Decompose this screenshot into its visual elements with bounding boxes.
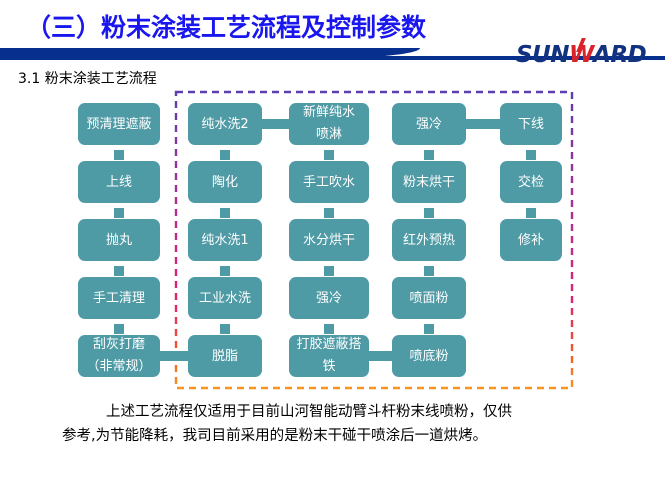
flow-box[interactable]: 喷底粉 [392, 335, 466, 377]
flow-box-label: 脱脂 [212, 348, 238, 365]
flow-box-label: 纯水洗1 [201, 232, 248, 249]
flow-box-label: 下线 [518, 116, 544, 133]
logo-text-ard: ARD [593, 42, 646, 68]
flow-box-label: 手工清理 [93, 290, 145, 307]
footer-note-line-2: 参考,为节能降耗，我司目前采用的是粉末干碰干喷涂后一道烘烤。 [62, 428, 487, 444]
flow-box-label: 喷底粉 [409, 348, 448, 365]
flow-box[interactable]: 打胶遮蔽搭铁 [289, 335, 369, 377]
flow-box-label: 打胶遮蔽搭铁 [296, 334, 361, 378]
flow-box[interactable]: 喷面粉 [392, 277, 466, 319]
flow-connector-horizontal [369, 351, 392, 361]
flow-connector-vertical [424, 150, 434, 160]
flow-box-label: 交检 [518, 174, 544, 191]
flow-box-label: 预清理遮蔽 [86, 116, 151, 133]
flow-box-label: 喷面粉 [409, 290, 448, 307]
footer-note-line-1: 上述工艺流程仅适用于目前山河智能动臂斗杆粉末线喷粉，仅供 [106, 404, 512, 420]
flow-box-label: 修补 [518, 232, 544, 249]
flow-box[interactable]: 纯水洗2 [188, 103, 262, 145]
flow-box[interactable]: 水分烘干 [289, 219, 369, 261]
flow-box-label: 工业水洗 [199, 290, 251, 307]
flow-box[interactable]: 陶化 [188, 161, 262, 203]
flow-connector-vertical [220, 266, 230, 276]
flow-connector-vertical [220, 324, 230, 334]
flow-box[interactable]: 脱脂 [188, 335, 262, 377]
flow-box-label: 粉末烘干 [403, 174, 455, 191]
flow-box-label: 纯水洗2 [201, 116, 248, 133]
flow-box-label: 新鲜纯水喷淋 [303, 102, 355, 146]
flow-box[interactable]: 上线 [78, 161, 160, 203]
flow-box[interactable]: 下线 [500, 103, 562, 145]
flow-connector-vertical [324, 208, 334, 218]
flow-connector-vertical [114, 266, 124, 276]
flow-box[interactable]: 强冷 [289, 277, 369, 319]
logo-text-sun: SUN [516, 42, 569, 68]
flow-connector-horizontal [160, 351, 188, 361]
flow-connector-vertical [526, 150, 536, 160]
flow-connector-vertical [424, 208, 434, 218]
sunward-logo: SUNWARD [516, 43, 646, 67]
flow-box[interactable]: 纯水洗1 [188, 219, 262, 261]
flow-connector-vertical [424, 266, 434, 276]
flow-connector-vertical [424, 324, 434, 334]
flow-box-label: 水分烘干 [303, 232, 355, 249]
flow-connector-vertical [324, 324, 334, 334]
flow-box[interactable]: 工业水洗 [188, 277, 262, 319]
flow-connector-vertical [526, 208, 536, 218]
flow-box[interactable]: 红外预热 [392, 219, 466, 261]
flow-box[interactable]: 手工清理 [78, 277, 160, 319]
flow-connector-horizontal [262, 119, 289, 129]
section-subtitle: 3.1 粉末涂装工艺流程 [18, 68, 157, 88]
flow-connector-vertical [324, 150, 334, 160]
slide-canvas: （三）粉末涂装工艺流程及控制参数 SUNWARD 3.1 粉末涂装工艺流程 预清… [0, 0, 665, 499]
flow-box[interactable]: 粉末烘干 [392, 161, 466, 203]
flow-box[interactable]: 修补 [500, 219, 562, 261]
flow-box-label: 强冷 [316, 290, 342, 307]
flow-box[interactable]: 刮灰打磨（非常规） [78, 335, 160, 377]
flow-box-label: 手工吹水 [303, 174, 355, 191]
flow-connector-vertical [114, 324, 124, 334]
flow-box-label: 上线 [106, 174, 132, 191]
flow-connector-vertical [220, 150, 230, 160]
flow-box[interactable]: 强冷 [392, 103, 466, 145]
flow-box-label: 刮灰打磨（非常规） [86, 334, 151, 378]
flow-connector-vertical [220, 208, 230, 218]
flow-box[interactable]: 手工吹水 [289, 161, 369, 203]
flow-box-label: 抛丸 [106, 232, 132, 249]
flow-box-label: 红外预热 [403, 232, 455, 249]
flow-box[interactable]: 交检 [500, 161, 562, 203]
footer-note: 上述工艺流程仅适用于目前山河智能动臂斗杆粉末线喷粉，仅供参考,为节能降耗，我司目… [62, 400, 607, 448]
flow-connector-vertical [114, 208, 124, 218]
flow-box[interactable]: 抛丸 [78, 219, 160, 261]
flow-connector-horizontal [466, 119, 500, 129]
flow-box[interactable]: 新鲜纯水喷淋 [289, 103, 369, 145]
flow-connector-vertical [114, 150, 124, 160]
page-title: （三）粉末涂装工艺流程及控制参数 [26, 13, 426, 43]
flow-box[interactable]: 预清理遮蔽 [78, 103, 160, 145]
logo-wordmark: SUNWARD [516, 44, 646, 67]
flow-connector-vertical [324, 266, 334, 276]
flow-box-label: 强冷 [416, 116, 442, 133]
flow-box-label: 陶化 [212, 174, 238, 191]
